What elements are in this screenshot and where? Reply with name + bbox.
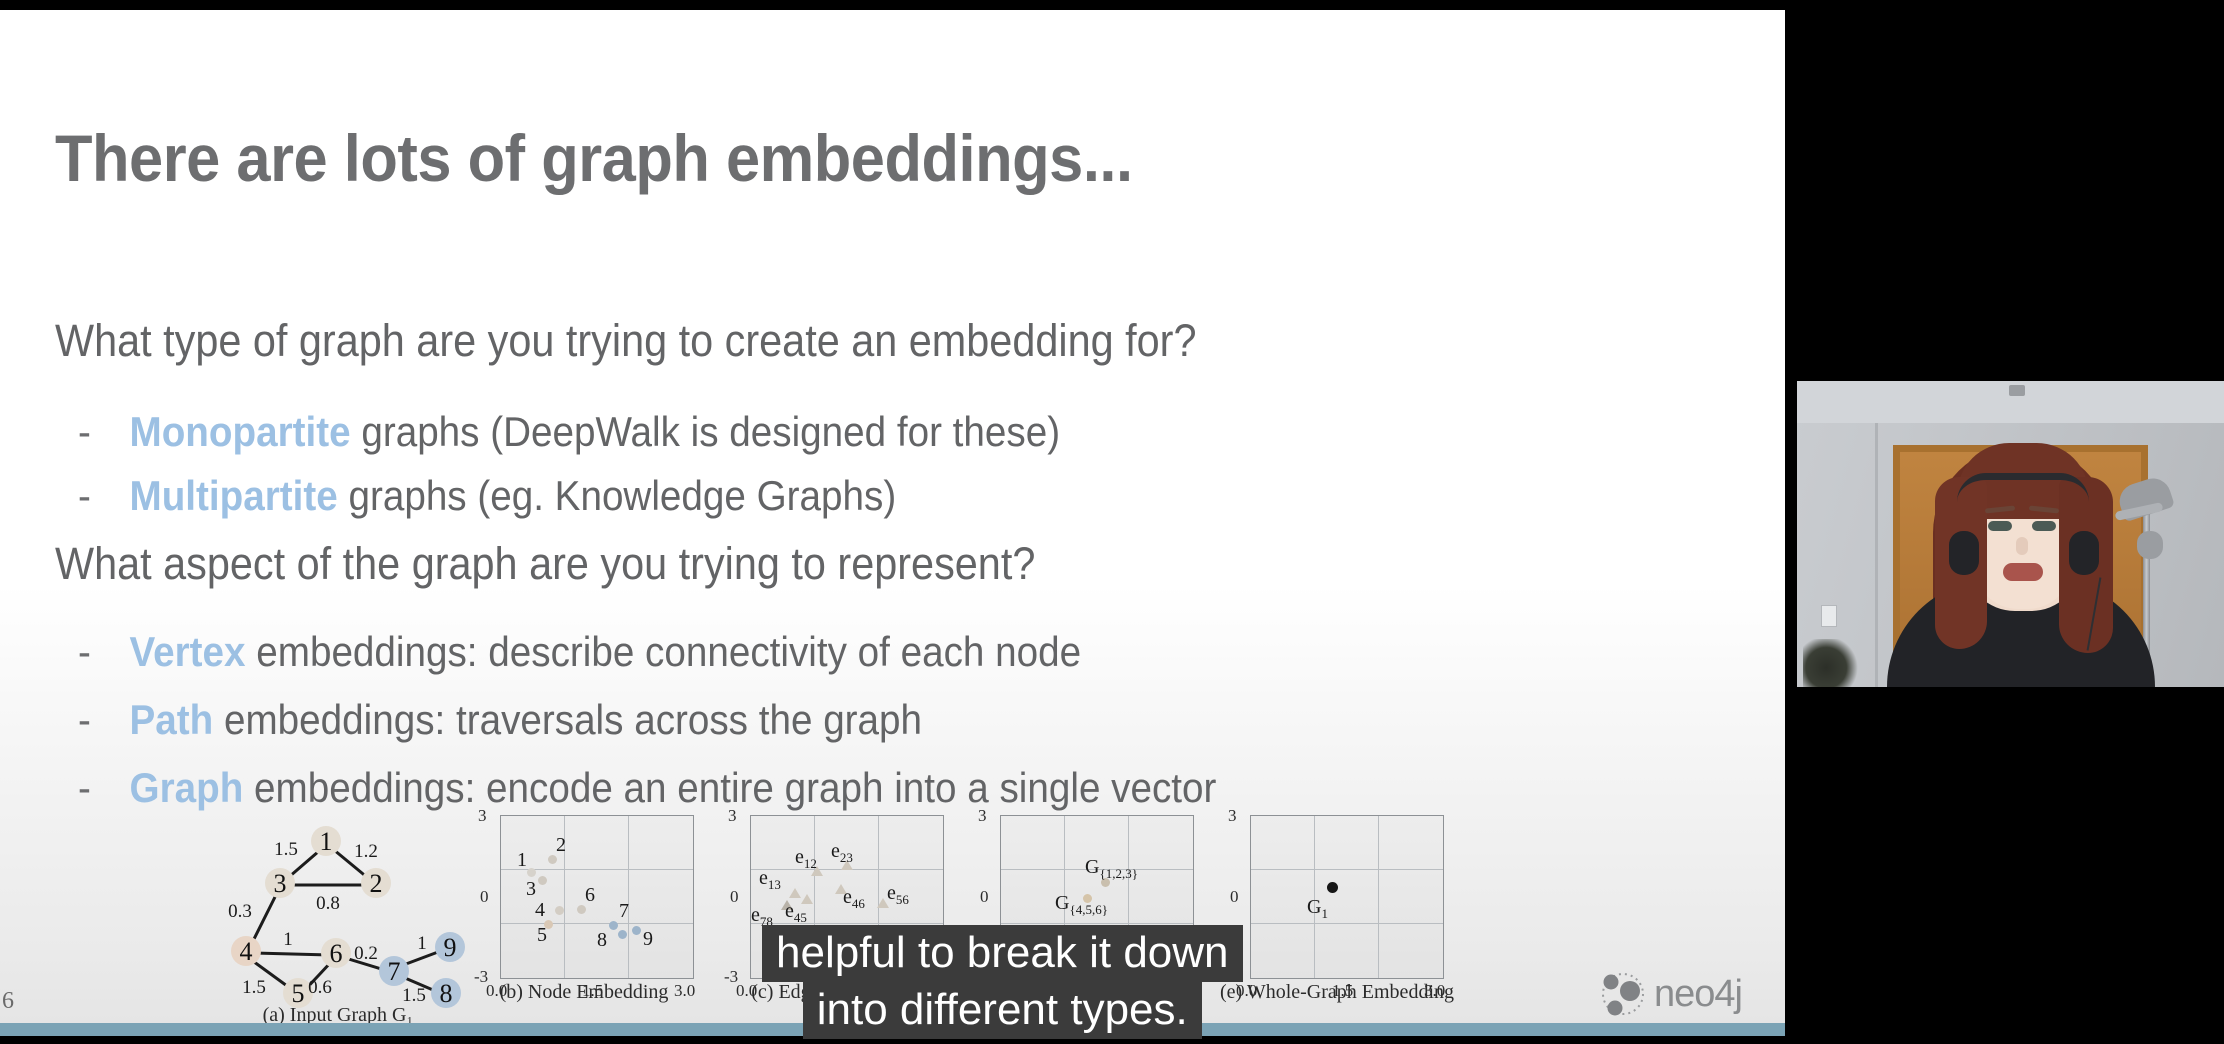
webcam-light-switch [1821,605,1837,627]
figure-panel-node-embedding: 1 2 3 4 5 6 7 8 9 3 0 -3 0.0 1.5 3.0 (b)… [470,815,698,1000]
webcam-headphone-cup-left [1949,531,1979,575]
plot-area-e: G1 [1250,815,1444,979]
svg-text:0.2: 0.2 [354,943,378,964]
svg-text:1.5: 1.5 [242,977,266,998]
webcam-plant [1803,639,1861,687]
svg-text:3: 3 [274,869,287,898]
question-1: What type of graph are you trying to cre… [55,315,1196,367]
data-point [527,868,536,877]
svg-text:7: 7 [388,957,401,986]
bullet-highlight: Monopartite [130,408,351,455]
bullet-dash: - [78,628,130,676]
bullet-highlight: Vertex [130,628,246,675]
data-point [538,876,547,885]
figure-panel-input-graph: 1 2 3 4 5 6 7 8 9 1.5 1.2 0.8 0.3 [218,813,458,1023]
bullet-dash: - [78,408,130,456]
point-label: 8 [597,929,607,952]
point-label-e13: e13 [759,867,781,893]
point-label: 3 [526,878,536,901]
svg-text:0.3: 0.3 [228,901,252,922]
plot-area-b: 1 2 3 4 5 6 7 8 9 [500,815,694,979]
neo4j-logo: neo4j [1598,965,1758,1023]
svg-text:0.6: 0.6 [308,977,332,998]
point-label-g456: G{4,5,6} [1055,892,1108,918]
webcam-wall-seam [1875,381,1878,687]
y-tick-top: 3 [1228,806,1237,826]
data-point [632,926,641,935]
point-label: 7 [619,900,629,923]
webcam-mic-clip [2137,531,2163,559]
point-label: 4 [535,899,545,922]
bullet-text: graphs (eg. Knowledge Graphs) [338,472,896,519]
svg-text:1.5: 1.5 [274,839,298,860]
bullet-dash: - [78,696,130,744]
y-tick-top: 3 [728,806,737,826]
point-label-e23: e23 [831,840,853,866]
bullet-path: -Path embeddings: traversals across the … [78,696,922,744]
slide-title: There are lots of graph embeddings... [55,120,1133,196]
svg-text:1: 1 [283,929,293,950]
webcam-headphone-cup-right [2069,531,2099,575]
slide-page-number: 6 [2,988,14,1015]
y-tick-mid: 0 [730,887,739,907]
panel-caption-b: (b) Node Embedding [470,981,698,1004]
neo4j-wordmark: neo4j [1654,973,1742,1016]
svg-text:4: 4 [240,937,253,966]
data-point [555,906,564,915]
point-label: 6 [585,884,595,907]
webcam-presenter-nose [2016,537,2028,555]
embedding-figure: 1 2 3 4 5 6 7 8 9 1.5 1.2 0.8 0.3 [0,805,1510,1036]
point-label-e46: e46 [843,886,865,912]
input-graph-svg: 1 2 3 4 5 6 7 8 9 1.5 1.2 0.8 0.3 [218,813,468,1013]
data-point [1327,882,1338,893]
webcam-presenter-mouth [2003,563,2043,581]
point-label-e45: e45 [785,900,807,926]
svg-text:1: 1 [417,933,427,954]
y-tick-top: 3 [978,806,987,826]
webcam-ceiling-fixture [2009,385,2025,396]
bullet-text: embeddings: traversals across the graph [213,696,922,743]
y-tick-top: 3 [478,806,487,826]
point-label-g123: G{1,2,3} [1085,856,1138,882]
point-label: 5 [537,924,547,947]
svg-text:2: 2 [370,869,383,898]
y-tick-mid: 0 [480,887,489,907]
bullet-text: embeddings: describe connectivity of eac… [246,628,1082,675]
bullet-multipartite: -Multipartite graphs (eg. Knowledge Grap… [78,472,896,520]
y-tick-mid: 0 [980,887,989,907]
presenter-webcam-tile[interactable] [1797,381,2224,687]
presentation-slide: There are lots of graph embeddings... Wh… [0,10,1785,1036]
svg-text:0.8: 0.8 [316,893,340,914]
neo4j-mark-icon [1598,969,1648,1019]
point-label: 1 [517,849,527,872]
svg-text:6: 6 [330,939,343,968]
data-point [789,888,801,898]
svg-text:1.5: 1.5 [402,985,426,1006]
webcam-presenter-eye-right [2032,521,2056,531]
question-2: What aspect of the graph are you trying … [55,538,1035,590]
point-label-g1: G1 [1307,896,1328,922]
data-point [618,930,627,939]
bullet-highlight: Path [130,696,214,743]
webcam-headphone-band [1957,473,2089,502]
webcam-presenter-eye-left [1988,521,2012,531]
bullet-dash: - [78,472,130,520]
bullet-text: embeddings: encode an entire graph into … [243,764,1216,811]
bullet-highlight: Multipartite [130,472,338,519]
closed-caption-overlay: helpful to break it down into different … [762,925,1243,1039]
screen-share-window: There are lots of graph embeddings... Wh… [0,0,2224,1044]
y-tick-mid: 0 [1230,887,1239,907]
panel-caption-e: (e) Whole-Graph Embedding [1220,981,1448,1004]
point-label: 2 [556,834,566,857]
bullet-highlight: Graph [130,764,244,811]
bullet-monopartite: -Monopartite graphs (DeepWalk is designe… [78,408,1060,456]
bullet-vertex: -Vertex embeddings: describe connectivit… [78,628,1081,676]
point-label: 9 [643,928,653,951]
data-point [609,921,618,930]
caption-line-1: helpful to break it down [762,925,1243,982]
svg-text:1: 1 [320,827,333,856]
caption-line-2: into different types. [803,982,1202,1039]
figure-panel-whole-graph-embedding: G1 3 0 -3 0.0 1.5 3.0 (e) Whole-Graph Em… [1220,815,1448,1000]
bullet-text: graphs (DeepWalk is designed for these) [351,408,1060,455]
svg-text:1.2: 1.2 [354,841,378,862]
point-label-e56: e56 [887,882,909,908]
point-label-e12: e12 [795,846,817,872]
svg-text:9: 9 [444,933,457,962]
